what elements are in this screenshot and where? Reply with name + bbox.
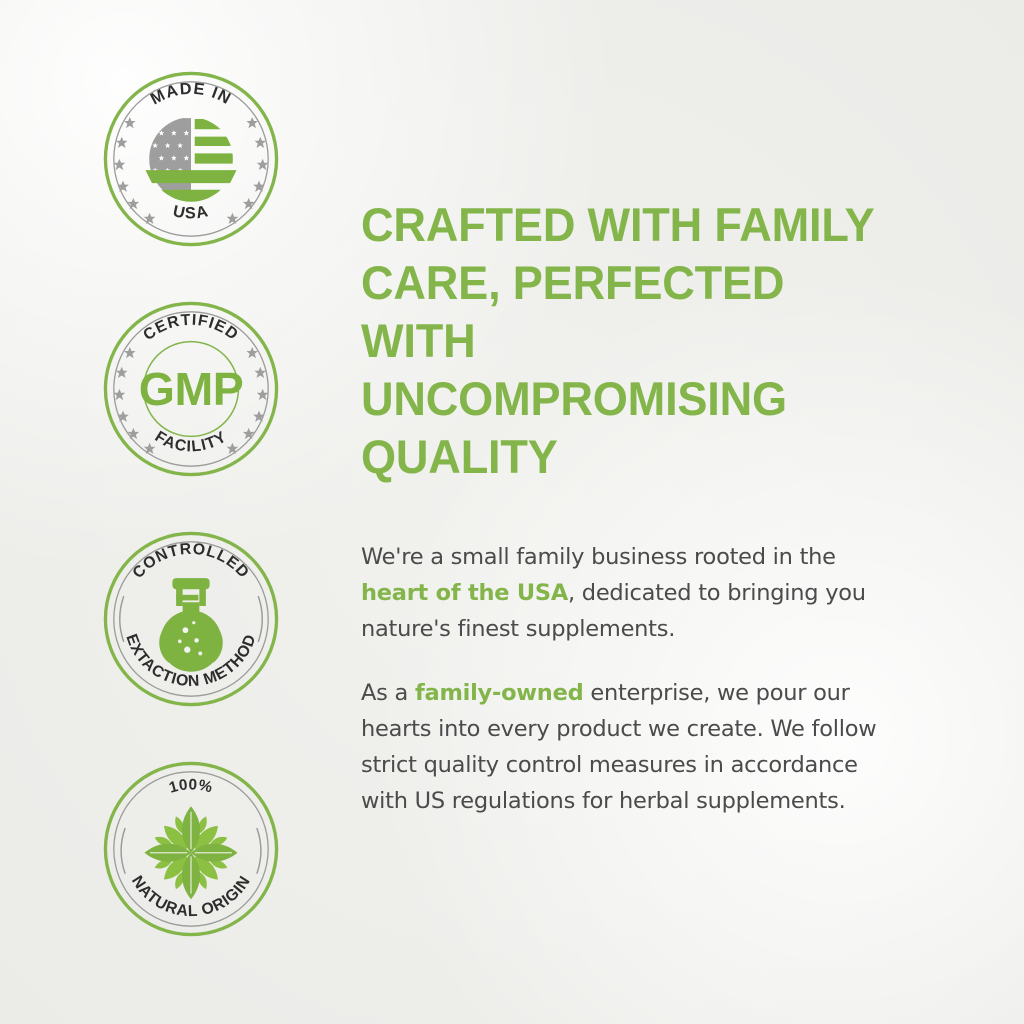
content-column: CRAFTED WITH FAMILY CARE, PERFECTED WITH… — [361, 196, 921, 819]
paragraph-2-highlight: family-owned — [415, 680, 583, 706]
badge-top-text: 100% — [167, 776, 214, 796]
badge-bottom-text: USA — [171, 202, 210, 222]
flask-leaf-icon — [159, 578, 223, 672]
badge-bottom-text: FACILITY — [152, 428, 230, 455]
paragraph-2-text-before: As a — [361, 680, 415, 706]
quality-paragraph: As a family-owned enterprise, we pour ou… — [361, 675, 891, 819]
badge-center-text: GMP — [139, 363, 244, 415]
paragraph-1-highlight: heart of the USA — [361, 580, 568, 606]
badge-controlled-extraction-method[interactable]: CONTROLLED EXTACTION METHOD — [98, 526, 284, 712]
usa-flag-shield-icon — [145, 118, 236, 202]
paragraph-1-text-before: We're a small family business rooted in … — [361, 544, 836, 570]
badge-top-text: CERTIFIED — [140, 312, 241, 344]
intro-paragraph: We're a small family business rooted in … — [361, 539, 891, 647]
leaf-rosette-icon — [145, 806, 238, 899]
badge-natural-origin[interactable]: 100% NATURAL ORIGIN — [98, 756, 284, 942]
page-title: CRAFTED WITH FAMILY CARE, PERFECTED WITH… — [361, 196, 899, 486]
badge-gmp-certified-facility[interactable]: GMP CERTIFIED FACILITY — [98, 296, 284, 482]
badge-top-text: MADE IN — [148, 80, 235, 109]
badge-made-in-usa[interactable]: MADE IN USA — [98, 66, 284, 252]
certification-badges-column: MADE IN USA — [98, 66, 288, 942]
